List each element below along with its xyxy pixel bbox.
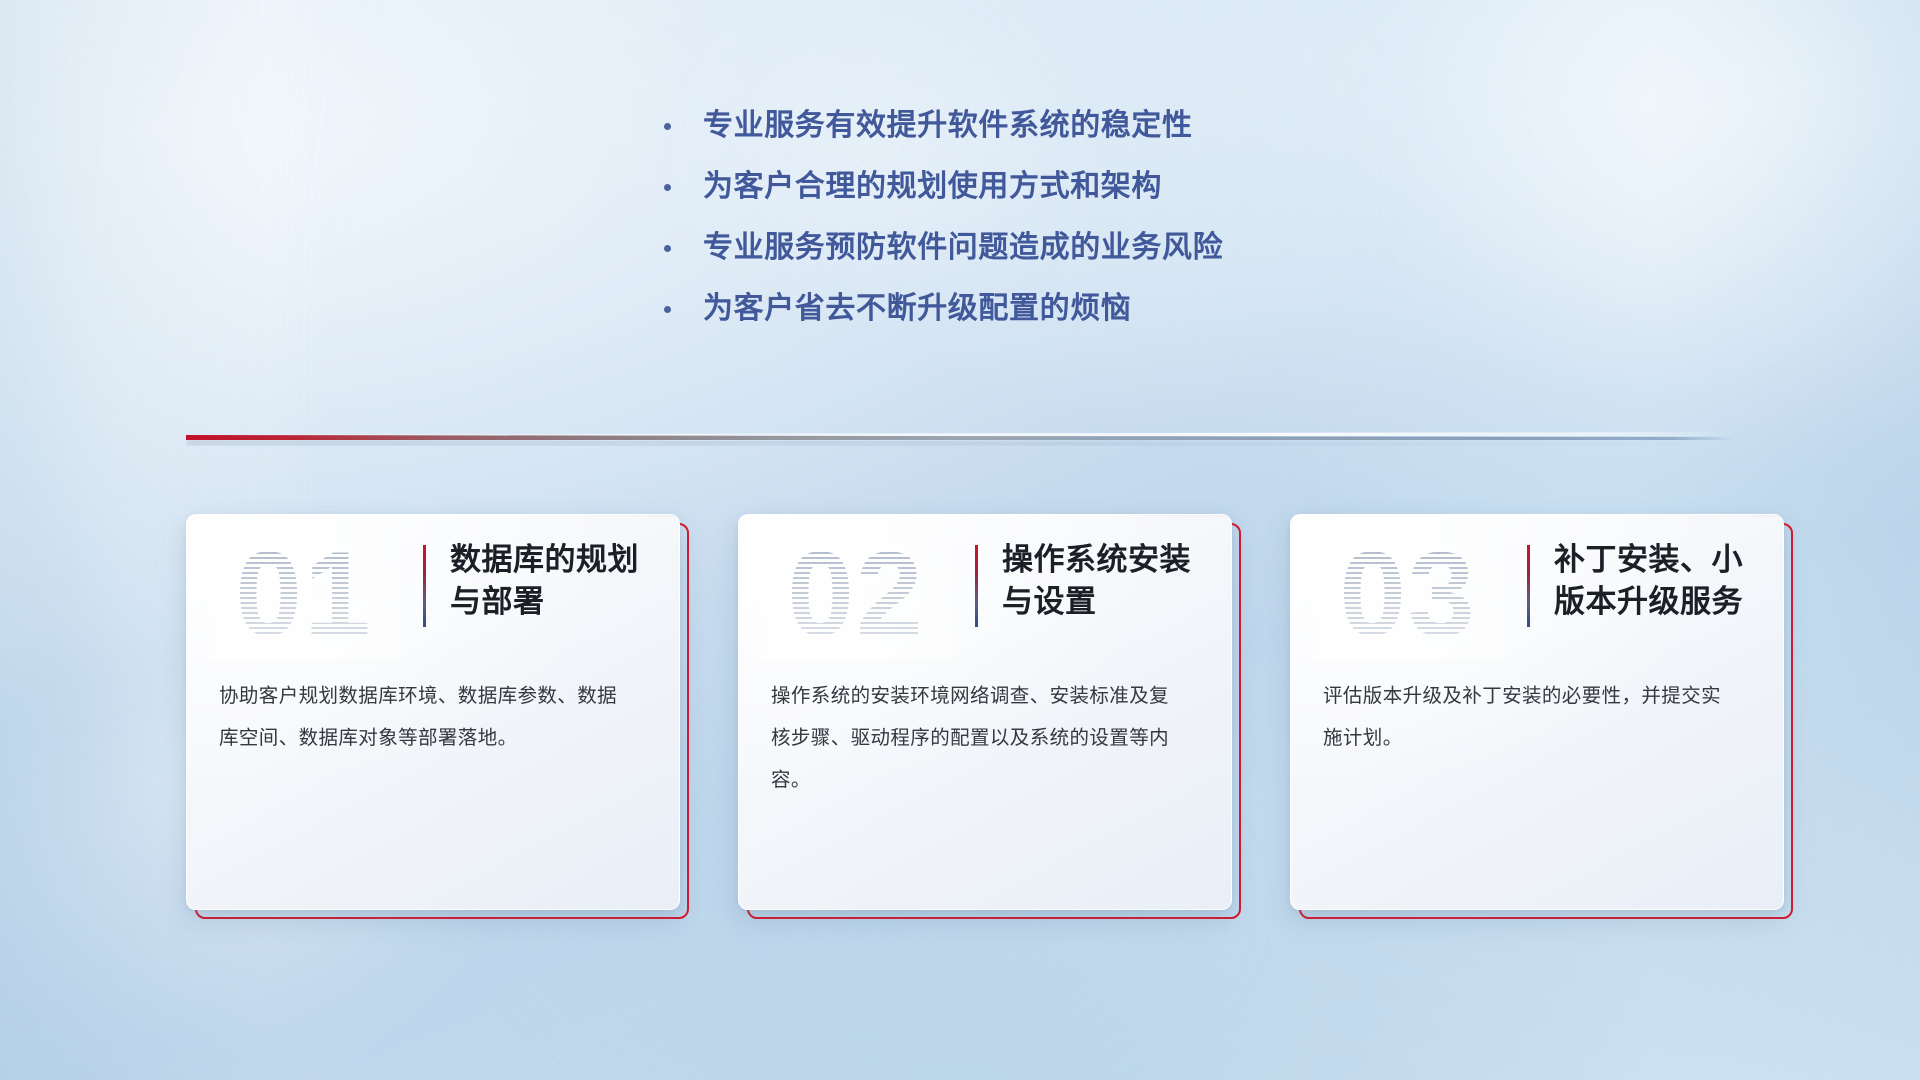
service-cards: 01 数据库的规划与部署 协助客户规划数据库环境、数据库参数、数据库空间、数据库… [0, 514, 1920, 934]
card-number-badge: 03 [1313, 529, 1503, 659]
bullet-dot-icon [664, 184, 671, 191]
service-card-03[interactable]: 03 补丁安装、小版本升级服务 评估版本升级及补丁安装的必要性，并提交实施计划。 [1290, 514, 1784, 910]
list-item: 为客户合理的规划使用方式和架构 [664, 169, 1424, 205]
card-title-accent-bar [423, 545, 426, 627]
benefits-bullet-list: 专业服务有效提升软件系统的稳定性 为客户合理的规划使用方式和架构 专业服务预防软… [664, 108, 1424, 352]
card-number-fade [209, 529, 399, 659]
card-number-badge: 02 [761, 529, 951, 659]
card-surface: 01 数据库的规划与部署 协助客户规划数据库环境、数据库参数、数据库空间、数据库… [186, 514, 680, 910]
card-title-accent-bar [1527, 545, 1530, 627]
card-number: 01 [209, 529, 399, 659]
gradient-divider [186, 432, 1734, 446]
card-number: 03 [1313, 529, 1503, 659]
card-title-block: 数据库的规划与部署 [423, 539, 664, 627]
card-title: 操作系统安装与设置 [1002, 539, 1216, 623]
bullet-text: 为客户省去不断升级配置的烦恼 [703, 291, 1131, 327]
bullet-dot-icon [664, 245, 671, 252]
service-card-01[interactable]: 01 数据库的规划与部署 协助客户规划数据库环境、数据库参数、数据库空间、数据库… [186, 514, 680, 910]
list-item: 专业服务预防软件问题造成的业务风险 [664, 230, 1424, 266]
service-card-02[interactable]: 02 操作系统安装与设置 操作系统的安装环境网络调查、安装标准及复核步骤、驱动程… [738, 514, 1232, 910]
card-number-fade [761, 529, 951, 659]
divider-shadow [186, 440, 1734, 446]
bullet-text: 专业服务有效提升软件系统的稳定性 [703, 108, 1193, 144]
list-item: 为客户省去不断升级配置的烦恼 [664, 291, 1424, 327]
card-body-text: 协助客户规划数据库环境、数据库参数、数据库空间、数据库对象等部署落地。 [219, 675, 633, 759]
card-title-block: 操作系统安装与设置 [975, 539, 1216, 627]
bullet-text: 为客户合理的规划使用方式和架构 [703, 169, 1162, 205]
list-item: 专业服务有效提升软件系统的稳定性 [664, 108, 1424, 144]
card-number: 02 [761, 529, 951, 659]
card-number-badge: 01 [209, 529, 399, 659]
card-body-text: 评估版本升级及补丁安装的必要性，并提交实施计划。 [1323, 675, 1737, 759]
card-title-block: 补丁安装、小版本升级服务 [1527, 539, 1768, 627]
bullet-dot-icon [664, 306, 671, 313]
card-title-accent-bar [975, 545, 978, 627]
bullet-text: 专业服务预防软件问题造成的业务风险 [703, 230, 1223, 266]
card-title: 补丁安装、小版本升级服务 [1554, 539, 1768, 623]
bullet-dot-icon [664, 123, 671, 130]
card-body-text: 操作系统的安装环境网络调查、安装标准及复核步骤、驱动程序的配置以及系统的设置等内… [771, 675, 1185, 801]
card-title: 数据库的规划与部署 [450, 539, 664, 623]
card-surface: 03 补丁安装、小版本升级服务 评估版本升级及补丁安装的必要性，并提交实施计划。 [1290, 514, 1784, 910]
card-surface: 02 操作系统安装与设置 操作系统的安装环境网络调查、安装标准及复核步骤、驱动程… [738, 514, 1232, 910]
card-number-fade [1313, 529, 1503, 659]
